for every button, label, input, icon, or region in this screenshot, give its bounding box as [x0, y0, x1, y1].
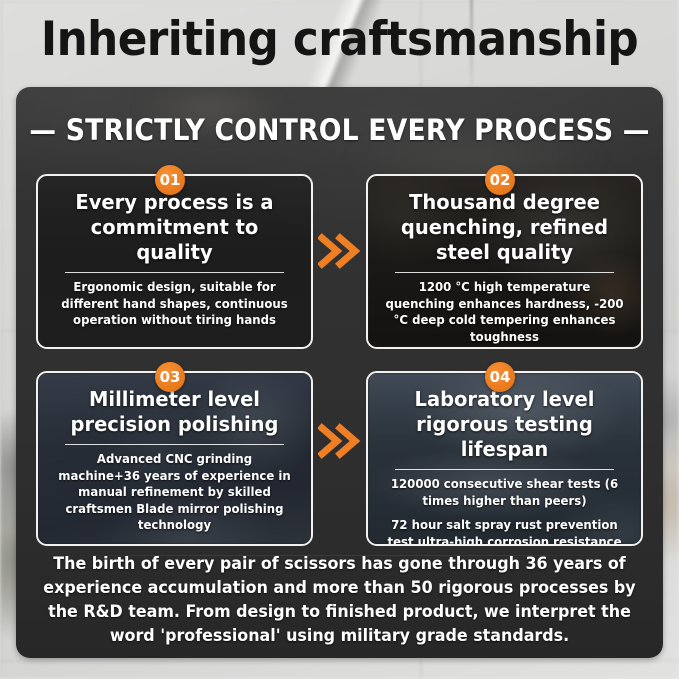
double-chevron-right-icon [318, 231, 362, 271]
process-card-04: Laboratory level rigorous testing lifesp… [366, 371, 643, 546]
card-divider [395, 272, 614, 273]
card-title: Millimeter level precision polishing [56, 387, 293, 437]
step-badge-04: 04 [485, 362, 515, 392]
panel-heading: — STRICTLY CONTROL EVERY PROCESS — [27, 113, 652, 147]
card-body-text: Advanced CNC grinding machine+36 years o… [55, 451, 294, 534]
card-divider [65, 272, 284, 273]
process-card-grid: Every process is a commitment to quality… [36, 174, 643, 546]
product-infographic: Inheriting craftsmanship — STRICTLY CONT… [0, 0, 679, 679]
process-card-03: Millimeter level precision polishing Adv… [36, 371, 313, 546]
card-body-text-secondary: 72 hour salt spray rust prevention test … [385, 517, 624, 546]
step-badge-03: 03 [155, 362, 185, 392]
process-card-01: Every process is a commitment to quality… [36, 174, 313, 349]
card-divider [65, 444, 284, 445]
card-divider [395, 469, 614, 470]
step-badge-01: 01 [155, 165, 185, 195]
footer-note: The birth of every pair of scissors has … [43, 552, 636, 648]
page-title: Inheriting craftsmanship [24, 8, 655, 72]
card-title: Thousand degree quenching, refined steel… [386, 190, 623, 265]
card-body-text: Ergonomic design, suitable for different… [55, 279, 294, 329]
double-chevron-right-icon [318, 421, 362, 461]
card-body-text: 1200 °C high temperature quenching enhan… [385, 279, 624, 345]
step-badge-02: 02 [485, 165, 515, 195]
process-card-02: Thousand degree quenching, refined steel… [366, 174, 643, 349]
card-body-text: 120000 consecutive shear tests (6 times … [385, 476, 624, 509]
card-title: Every process is a commitment to quality [56, 190, 293, 265]
card-title: Laboratory level rigorous testing lifesp… [386, 387, 623, 462]
